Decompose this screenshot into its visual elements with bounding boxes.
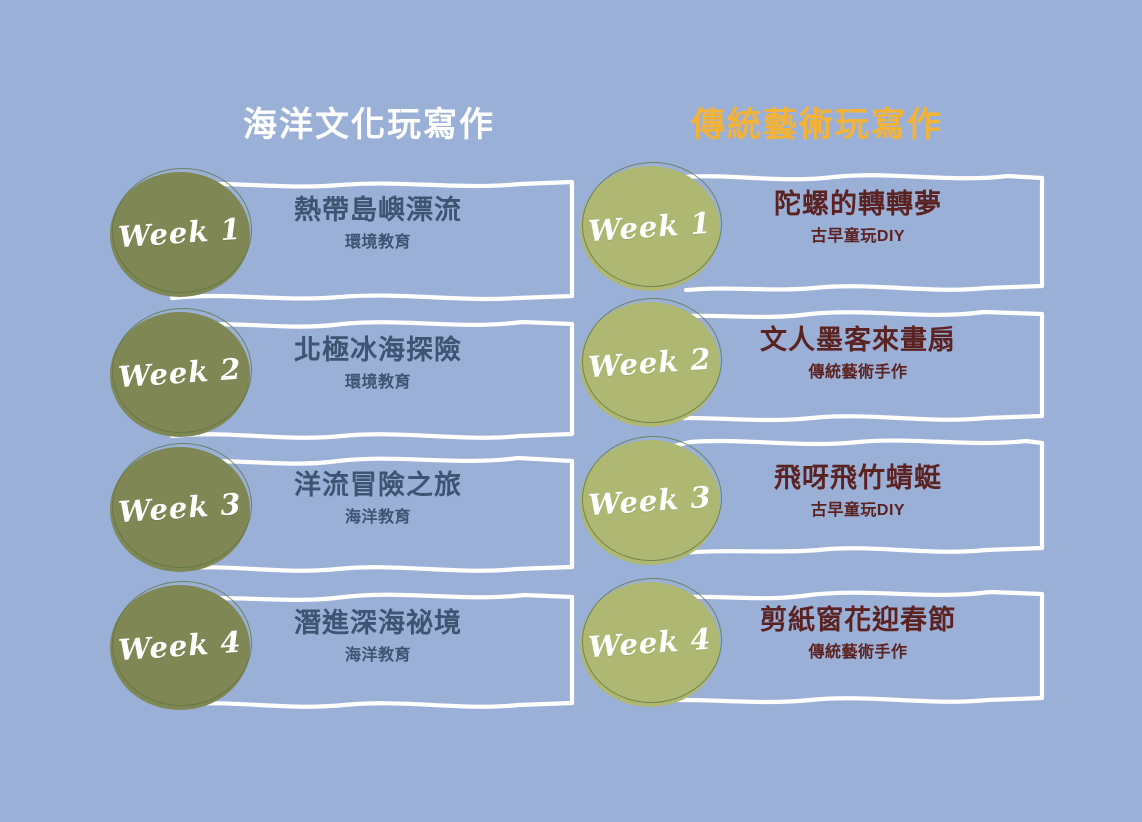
card-art-week-2[interactable]: Week 2 文人墨客來畫扇 傳統藝術手作 [580,302,1050,442]
week-badge: Week 2 [580,302,720,427]
card-text: 潛進深海祕境 海洋教育 [228,607,528,668]
week-label: Week 3 [576,435,724,569]
card-subtitle: 傳統藝術手作 [708,641,1008,665]
card-text: 熱帶島嶼漂流 環境教育 [228,194,528,255]
card-ocean-week-1[interactable]: Week 1 熱帶島嶼漂流 環境教育 [110,172,580,312]
week-label: Week 2 [576,297,724,431]
column-title-ocean: 海洋文化玩寫作 [243,108,495,142]
card-text: 剪紙窗花迎春節 傳統藝術手作 [708,604,1008,665]
card-title: 飛呀飛竹蜻蜓 [708,462,1008,495]
card-text: 飛呀飛竹蜻蜓 古早童玩DIY [708,462,1008,523]
card-text: 北極冰海探險 環境教育 [228,334,528,395]
week-badge: Week 1 [580,166,720,291]
card-subtitle: 海洋教育 [228,644,528,668]
card-ocean-week-3[interactable]: Week 3 洋流冒險之旅 海洋教育 [110,447,580,587]
card-ocean-week-2[interactable]: Week 2 北極冰海探險 環境教育 [110,312,580,452]
card-title: 陀螺的轉轉夢 [708,188,1008,221]
column-title-traditional-art: 傳統藝術玩寫作 [691,108,943,142]
card-text: 陀螺的轉轉夢 古早童玩DIY [708,188,1008,249]
week-label: Week 4 [576,577,724,711]
card-subtitle: 海洋教育 [228,506,528,530]
card-title: 洋流冒險之旅 [228,469,528,502]
card-art-week-1[interactable]: Week 1 陀螺的轉轉夢 古早童玩DIY [580,166,1050,306]
week-badge: Week 3 [580,440,720,565]
week-badge: Week 4 [580,582,720,707]
card-text: 文人墨客來畫扇 傳統藝術手作 [708,324,1008,385]
week-label: Week 1 [576,161,724,295]
card-title: 北極冰海探險 [228,334,528,367]
card-art-week-4[interactable]: Week 4 剪紙窗花迎春節 傳統藝術手作 [580,582,1050,722]
card-subtitle: 傳統藝術手作 [708,361,1008,385]
card-title: 剪紙窗花迎春節 [708,604,1008,637]
card-title: 文人墨客來畫扇 [708,324,1008,357]
card-subtitle: 古早童玩DIY [708,499,1008,523]
card-subtitle: 環境教育 [228,371,528,395]
card-subtitle: 古早童玩DIY [708,225,1008,249]
card-subtitle: 環境教育 [228,231,528,255]
poster-canvas: 海洋文化玩寫作 Week 1 熱帶島嶼漂流 環境教育 [0,0,1142,822]
card-ocean-week-4[interactable]: Week 4 潛進深海祕境 海洋教育 [110,585,580,725]
card-title: 熱帶島嶼漂流 [228,194,528,227]
card-art-week-3[interactable]: Week 3 飛呀飛竹蜻蜓 古早童玩DIY [580,440,1050,580]
card-text: 洋流冒險之旅 海洋教育 [228,469,528,530]
card-title: 潛進深海祕境 [228,607,528,640]
